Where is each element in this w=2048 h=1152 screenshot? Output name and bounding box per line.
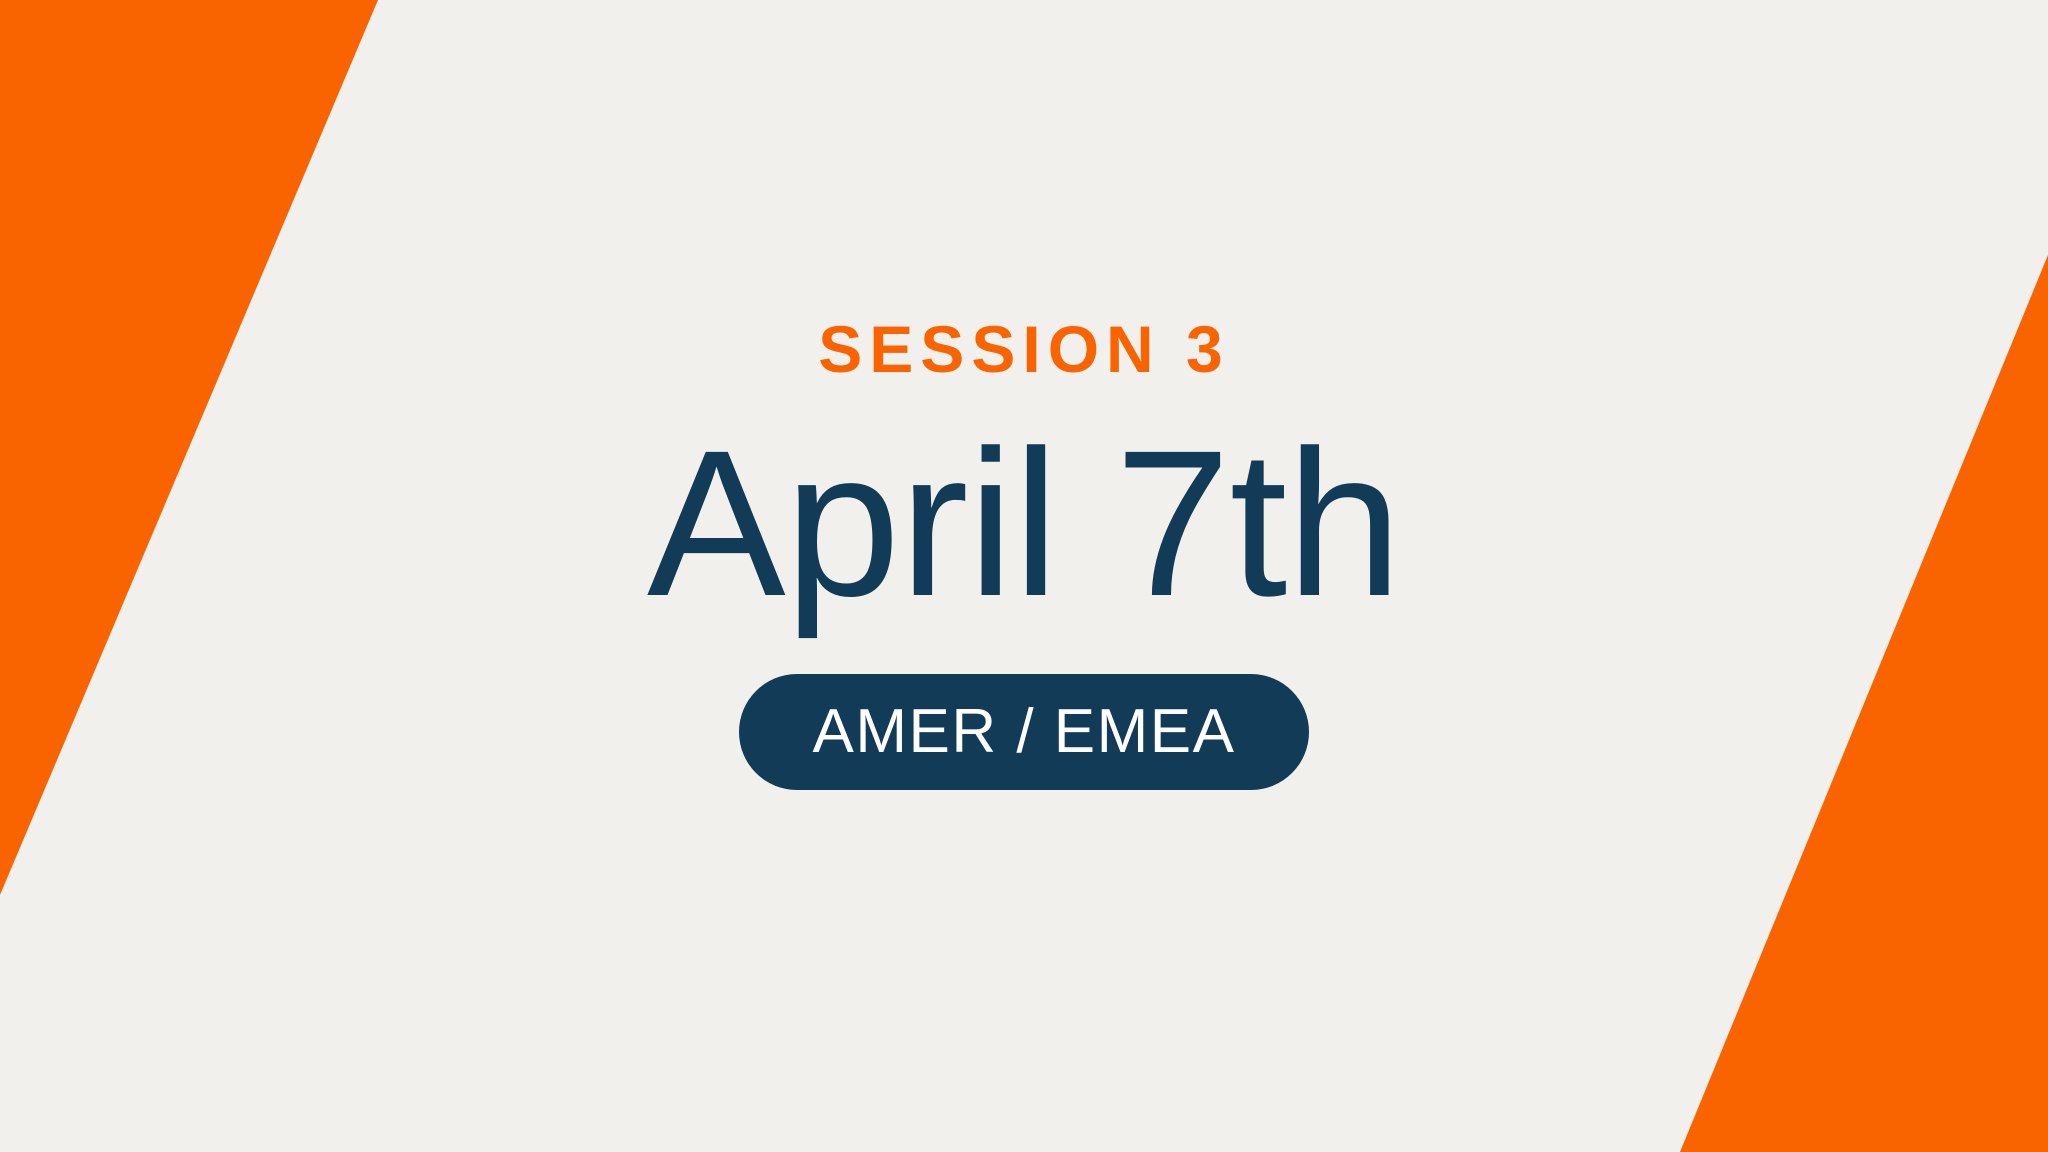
slide-content: SESSION 3 April 7th AMER / EMEA [0,0,2048,1152]
session-slide: SESSION 3 April 7th AMER / EMEA [0,0,2048,1152]
session-date-title: April 7th [647,418,1401,630]
region-badge-label: AMER / EMEA [812,701,1235,763]
region-badge: AMER / EMEA [739,674,1309,790]
session-eyebrow-label: SESSION 3 [818,316,1229,382]
